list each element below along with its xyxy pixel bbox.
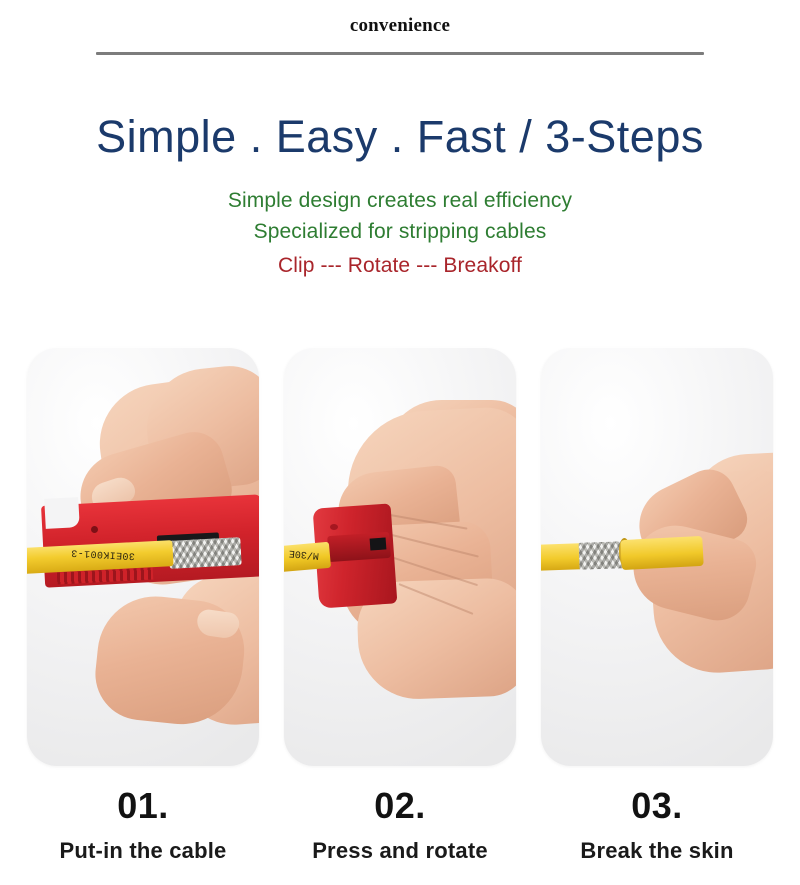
step-photo-1: 30EIK001-3 bbox=[27, 348, 259, 766]
tool-blade-slot bbox=[370, 537, 387, 550]
yellow-cable-left bbox=[541, 543, 583, 571]
step-label-3: Break the skin bbox=[541, 838, 773, 864]
subtitle-group: Simple design creates real efficiency Sp… bbox=[0, 186, 800, 281]
step-card-2: M/30E 02. Press and rotate bbox=[284, 348, 516, 864]
step-number-3: 03. bbox=[541, 788, 773, 824]
page-header: convenience bbox=[0, 0, 800, 52]
subtitle-line-1: Simple design creates real efficiency bbox=[0, 186, 800, 216]
step-card-3: 03. Break the skin bbox=[541, 348, 773, 864]
step-label-1: Put-in the cable bbox=[27, 838, 259, 864]
tagline-steps: Clip --- Rotate --- Breakoff bbox=[0, 250, 800, 282]
step-caption-3: 03. Break the skin bbox=[541, 788, 773, 864]
page-title: Simple . Easy . Fast / 3-Steps bbox=[0, 113, 800, 160]
step-number-2: 02. bbox=[284, 788, 516, 824]
cable-braid-shield bbox=[168, 537, 241, 569]
step-caption-2: 02. Press and rotate bbox=[284, 788, 516, 864]
step-photo-2: M/30E bbox=[284, 348, 516, 766]
step-number-1: 01. bbox=[27, 788, 259, 824]
yellow-cable-jacket-piece bbox=[620, 536, 703, 570]
step-label-2: Press and rotate bbox=[284, 838, 516, 864]
tool-notch bbox=[44, 497, 80, 529]
steps-row: 30EIK001-3 01. Put-in the cable M/30E bbox=[0, 348, 800, 864]
title-block: Simple . Easy . Fast / 3-Steps Simple de… bbox=[0, 55, 800, 282]
step-photo-3 bbox=[541, 348, 773, 766]
step-card-1: 30EIK001-3 01. Put-in the cable bbox=[27, 348, 259, 864]
tool-pivot-dot bbox=[91, 526, 98, 533]
header-title: convenience bbox=[350, 15, 450, 37]
step-caption-1: 01. Put-in the cable bbox=[27, 788, 259, 864]
tool-pivot-dot bbox=[330, 524, 338, 530]
subtitle-line-2: Specialized for stripping cables bbox=[0, 217, 800, 247]
